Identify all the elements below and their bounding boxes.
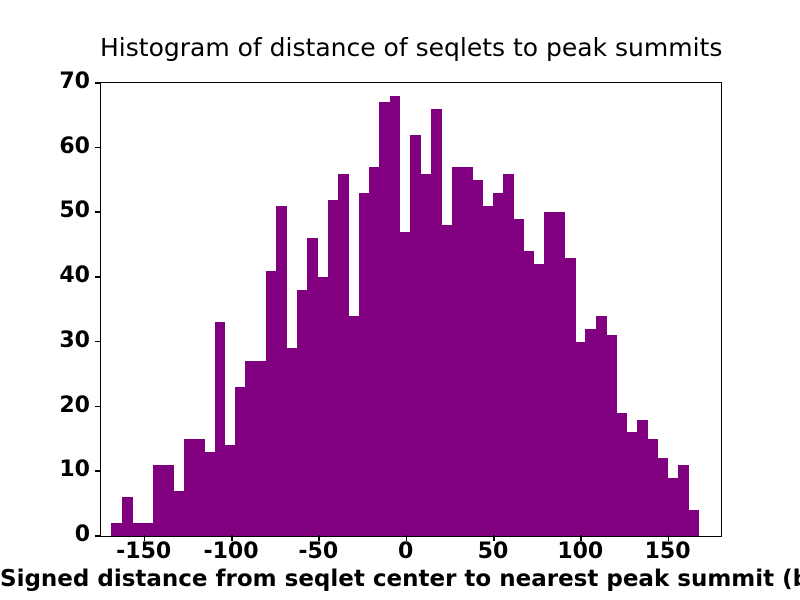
plot-area (100, 82, 722, 537)
histogram-bar (544, 212, 555, 536)
histogram-bar (400, 232, 411, 536)
histogram-bar (534, 264, 545, 536)
histogram-bar (627, 432, 638, 536)
histogram-bar (575, 342, 586, 536)
histogram-bar (307, 238, 318, 536)
histogram-bar (132, 523, 143, 536)
histogram-bar (616, 413, 627, 536)
histogram-bar (493, 193, 504, 536)
histogram-bar (328, 200, 339, 537)
histogram-bar (204, 452, 215, 536)
x-tick-label: -100 (186, 541, 276, 563)
y-tick-label: 60 (30, 136, 90, 158)
histogram-bar (359, 193, 370, 536)
histogram-bar (245, 361, 256, 536)
y-tick-mark (95, 82, 101, 84)
y-tick-label: 0 (30, 524, 90, 546)
x-tick-label: -50 (273, 541, 363, 563)
histogram-bar (410, 135, 421, 536)
y-tick-label: 20 (30, 395, 90, 417)
histogram-bar (153, 465, 164, 536)
histogram-bar (658, 458, 669, 536)
y-tick-mark (95, 147, 101, 149)
histogram-bar (276, 206, 287, 536)
histogram-bar (585, 329, 596, 536)
histogram-figure: Histogram of distance of seqlets to peak… (0, 0, 800, 600)
chart-title: Histogram of distance of seqlets to peak… (100, 33, 720, 62)
histogram-bar (163, 465, 174, 536)
x-tick-mark (318, 535, 320, 541)
histogram-bar (441, 225, 452, 536)
x-tick-mark (231, 535, 233, 541)
x-tick-label: 150 (623, 541, 713, 563)
histogram-bar (184, 439, 195, 536)
histogram-bar (513, 219, 524, 536)
x-tick-label: 0 (361, 541, 451, 563)
histogram-bar (225, 445, 236, 536)
x-tick-mark (144, 535, 146, 541)
y-tick-label: 70 (30, 71, 90, 93)
histogram-bar (194, 439, 205, 536)
histogram-bar (390, 96, 401, 536)
histogram-bar (266, 271, 277, 536)
y-tick-mark (95, 276, 101, 278)
x-tick-label: 100 (535, 541, 625, 563)
histogram-bar (215, 322, 226, 536)
x-tick-mark (668, 535, 670, 541)
histogram-bar (338, 174, 349, 536)
histogram-bar (122, 497, 133, 536)
y-tick-mark (95, 406, 101, 408)
y-tick-mark (95, 341, 101, 343)
x-tick-mark (580, 535, 582, 541)
histogram-bar (668, 478, 679, 536)
x-tick-label: 50 (448, 541, 538, 563)
histogram-bar (647, 439, 658, 536)
x-tick-label: -150 (99, 541, 189, 563)
histogram-bar (637, 420, 648, 536)
histogram-bar (565, 258, 576, 536)
histogram-bar (111, 523, 122, 536)
histogram-bar (482, 206, 493, 536)
histogram-bars (101, 83, 721, 536)
histogram-bar (379, 102, 390, 536)
y-tick-label: 50 (30, 200, 90, 222)
x-axis-label: Signed distance from seqlet center to ne… (0, 566, 800, 592)
histogram-bar (689, 510, 700, 536)
x-tick-mark (493, 535, 495, 541)
histogram-bar (318, 277, 329, 536)
histogram-bar (596, 316, 607, 536)
histogram-bar (472, 180, 483, 536)
histogram-bar (431, 109, 442, 536)
histogram-bar (421, 174, 432, 536)
x-tick-mark (406, 535, 408, 541)
y-tick-mark (95, 470, 101, 472)
y-tick-label: 40 (30, 265, 90, 287)
histogram-bar (462, 167, 473, 536)
y-tick-mark (95, 535, 101, 537)
histogram-bar (173, 491, 184, 536)
histogram-bar (678, 465, 689, 536)
histogram-bar (452, 167, 463, 536)
histogram-bar (606, 335, 617, 536)
histogram-bar (235, 387, 246, 536)
histogram-bar (297, 290, 308, 536)
histogram-bar (287, 348, 298, 536)
histogram-bar (503, 174, 514, 536)
y-tick-label: 30 (30, 330, 90, 352)
histogram-bar (256, 361, 267, 536)
y-tick-mark (95, 211, 101, 213)
histogram-bar (348, 316, 359, 536)
histogram-bar (555, 212, 566, 536)
y-tick-label: 10 (30, 459, 90, 481)
histogram-bar (524, 251, 535, 536)
histogram-bar (369, 167, 380, 536)
